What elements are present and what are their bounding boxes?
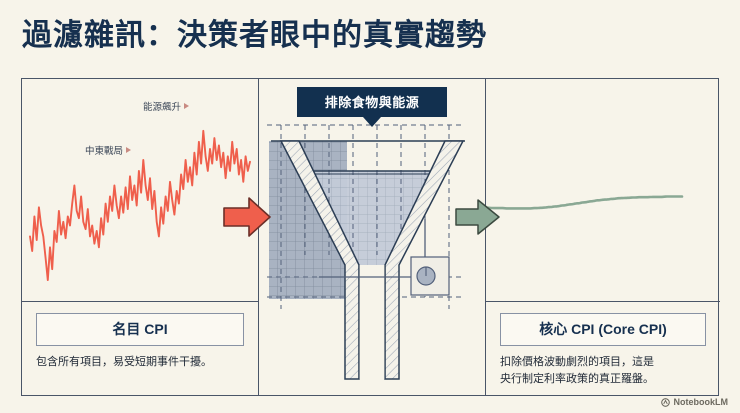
nominal-cpi-label-block: 名目 CPI 包含所有項目，易受短期事件干擾。: [22, 301, 258, 397]
content-frame: 能源飆升 中東戰局 名目 CPI 包含所有項目，易受短期事件干擾。: [21, 78, 719, 396]
arrow-right-green-icon: [455, 198, 501, 236]
annotation-energy-surge: 能源飆升: [143, 99, 189, 113]
panel-core-cpi: 核心 CPI (Core CPI) 扣除價格波動劇烈的項目，這是 央行制定利率政…: [486, 79, 720, 395]
exclusion-banner-wrap: 排除食物與能源: [297, 87, 447, 117]
annotation-energy-surge-label: 能源飆升: [143, 99, 181, 113]
annotation-middle-east-conflict: 中東戰局: [85, 143, 131, 157]
core-cpi-caption-line-1: 扣除價格波動劇烈的項目，這是: [500, 354, 706, 371]
circle-detail-icon: [411, 257, 449, 295]
arrow-right-red-icon: [222, 196, 272, 238]
core-cpi-chip: 核心 CPI (Core CPI): [500, 313, 706, 346]
core-cpi-label-block: 核心 CPI (Core CPI) 扣除價格波動劇烈的項目，這是 央行制定利率政…: [486, 301, 720, 397]
banner-tail-icon: [363, 117, 381, 127]
nominal-cpi-line-chart: [22, 79, 258, 301]
triangle-right-marker-icon: [126, 147, 131, 153]
core-cpi-chart-area: [486, 79, 720, 301]
core-cpi-line-chart: [486, 79, 720, 301]
watermark: NotebookLM: [661, 397, 729, 407]
panel-funnel: 排除食物與能源: [259, 79, 485, 395]
watermark-label: NotebookLM: [674, 397, 729, 407]
nominal-cpi-chart-area: 能源飆升 中東戰局: [22, 79, 258, 301]
page-title: 過濾雜訊：決策者眼中的真實趨勢: [22, 16, 487, 56]
nominal-cpi-chip: 名目 CPI: [36, 313, 244, 346]
nominal-cpi-caption: 包含所有項目，易受短期事件干擾。: [36, 354, 244, 371]
triangle-right-marker-icon: [184, 103, 189, 109]
core-cpi-caption-line-2: 央行制定利率政策的真正羅盤。: [500, 371, 706, 388]
exclusion-banner: 排除食物與能源: [297, 87, 447, 117]
annotation-middle-east-conflict-label: 中東戰局: [85, 143, 123, 157]
core-cpi-caption: 扣除價格波動劇烈的項目，這是 央行制定利率政策的真正羅盤。: [500, 354, 706, 388]
notebooklm-icon: [661, 398, 670, 407]
infographic-root: 過濾雜訊：決策者眼中的真實趨勢 能源飆升 中東戰局: [0, 0, 740, 413]
